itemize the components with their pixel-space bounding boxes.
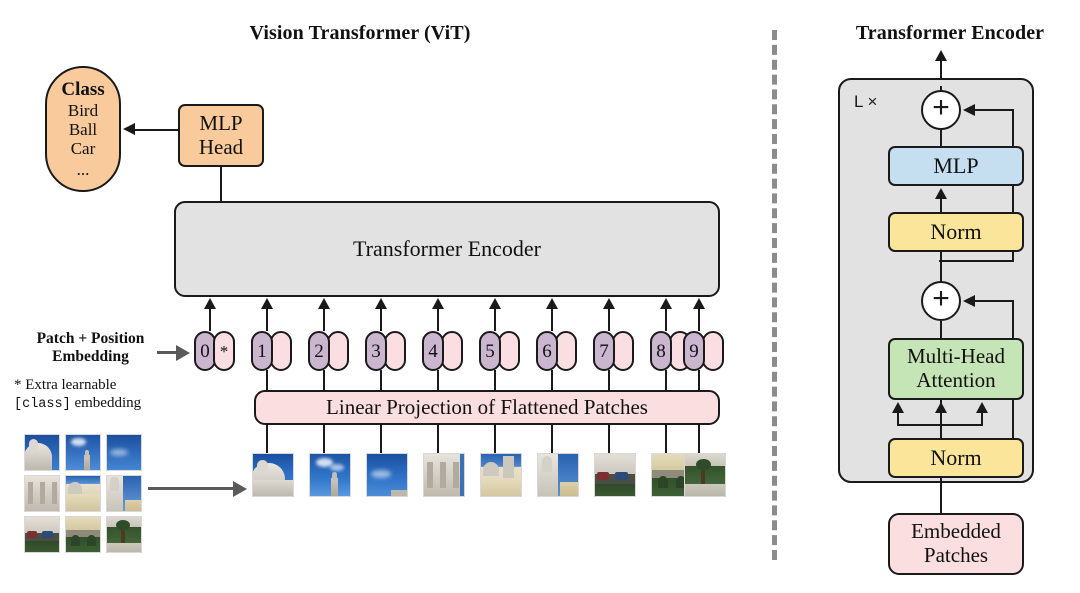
token-arrow-head-2 xyxy=(318,298,330,309)
token-pair-5: 5 xyxy=(479,331,520,371)
qkv-branch-v xyxy=(981,412,983,426)
token-arrow-head-9 xyxy=(693,298,705,309)
repeat-count-label: L × xyxy=(854,92,877,112)
panel-divider xyxy=(772,30,777,560)
token-pair-4: 4 xyxy=(422,331,463,371)
proj-stem-up-9 xyxy=(698,370,700,391)
token-arrow-head-1 xyxy=(261,298,273,309)
token-index-5: 5 xyxy=(479,331,501,371)
token-index-7: 7 xyxy=(593,331,615,371)
token-arrow-head-5 xyxy=(489,298,501,309)
left-panel-title: Vision Transformer (ViT) xyxy=(180,22,540,45)
source-patch-r1c1 xyxy=(24,434,60,471)
top-skip-arrowhead xyxy=(963,104,975,116)
token-pair-6: 6 xyxy=(536,331,577,371)
token-value-6 xyxy=(555,331,577,371)
token-arrow-line-4 xyxy=(437,308,439,331)
footnote-tail: embedding xyxy=(71,395,141,411)
token-arrow-line-0 xyxy=(209,308,211,331)
token-index-8: 8 xyxy=(650,331,672,371)
source-patch-r2c3 xyxy=(106,475,142,512)
mlp-head-to-class-arrowhead xyxy=(123,123,135,135)
token-value-7 xyxy=(612,331,634,371)
token-index-2: 2 xyxy=(308,331,330,371)
proj-stem-down-9 xyxy=(698,425,700,453)
token-arrow-head-0 xyxy=(204,298,216,309)
proj-stem-up-2 xyxy=(323,370,325,391)
class-item-ellipsis: ... xyxy=(77,160,90,179)
source-patch-r3c1 xyxy=(24,516,60,553)
mlp-head-to-class-line xyxy=(135,129,178,131)
mlp-head-box: MLP Head xyxy=(178,104,264,167)
flat-patch-5 xyxy=(480,453,522,497)
top-adder-input-line xyxy=(940,130,942,147)
token-arrow-head-8 xyxy=(660,298,672,309)
token-index-6: 6 xyxy=(536,331,558,371)
embedding-label-line1: Patch + Position xyxy=(37,330,145,347)
patchify-arrowhead xyxy=(233,481,247,497)
bottom-adder-input-line xyxy=(940,321,942,339)
flat-patch-9 xyxy=(684,453,726,497)
token-index-1: 1 xyxy=(251,331,273,371)
embedding-label-line2: Embedding xyxy=(52,348,129,365)
source-patch-r1c2 xyxy=(65,434,101,471)
residual-adder-bottom: + xyxy=(921,281,961,321)
proj-stem-down-5 xyxy=(494,425,496,453)
residual-adder-top: + xyxy=(921,90,961,130)
source-patch-r3c2 xyxy=(65,516,101,553)
proj-stem-down-2 xyxy=(323,425,325,453)
token-arrow-line-3 xyxy=(380,308,382,331)
token-pair-1: 1 xyxy=(251,331,292,371)
token-arrow-line-9 xyxy=(698,308,700,331)
qkv-arrowhead-v xyxy=(976,402,988,413)
token-value-5 xyxy=(498,331,520,371)
multi-head-attention-block: Multi-Head Attention xyxy=(888,338,1024,400)
proj-stem-down-1 xyxy=(266,425,268,453)
token-arrow-line-8 xyxy=(665,308,667,331)
token-index-4: 4 xyxy=(422,331,444,371)
embedded-patches-to-norm-line xyxy=(940,478,942,514)
flat-patch-6 xyxy=(537,453,579,497)
norm-top-to-mlp-line xyxy=(940,198,942,212)
transformer-encoder-label: Transformer Encoder xyxy=(353,237,541,262)
attention-label-line1: Multi-Head xyxy=(907,345,1005,369)
encoder-output-arrowhead xyxy=(935,50,947,61)
qkv-arrowhead-q xyxy=(892,402,904,413)
norm-block-bottom: Norm xyxy=(888,438,1024,478)
token-value-4 xyxy=(441,331,463,371)
proj-stem-up-1 xyxy=(266,370,268,391)
embedded-patches-block: Embedded Patches xyxy=(888,513,1024,575)
token-pair-3: 3 xyxy=(365,331,406,371)
source-patch-r1c3 xyxy=(106,434,142,471)
transformer-encoder-box: Transformer Encoder xyxy=(174,201,720,297)
proj-stem-up-6 xyxy=(551,370,553,391)
token-value-1 xyxy=(270,331,292,371)
qkv-branch-q xyxy=(897,412,899,426)
token-index-3: 3 xyxy=(365,331,387,371)
token-class-star: * xyxy=(213,331,235,371)
mlp-block: MLP xyxy=(888,146,1024,186)
footnote-mono-token: [class] xyxy=(14,397,71,412)
token-value-2 xyxy=(327,331,349,371)
token-pair-9: 9 xyxy=(683,331,724,371)
mlp-head-label-line2: Head xyxy=(199,136,243,160)
right-panel-title: Transformer Encoder xyxy=(820,22,1080,45)
proj-stem-up-7 xyxy=(608,370,610,391)
mlp-head-label-line1: MLP xyxy=(199,112,242,136)
bottom-skip-arrowhead xyxy=(963,295,975,307)
token-arrow-line-6 xyxy=(551,308,553,331)
top-skip-horizontal-top xyxy=(975,109,1014,111)
token-arrow-line-7 xyxy=(608,308,610,331)
patchify-arrow-line xyxy=(148,487,234,490)
embedded-patches-line1: Embedded xyxy=(911,520,1001,544)
source-patch-r2c2 xyxy=(65,475,101,512)
bottom-skip-horizontal-top xyxy=(975,300,1014,302)
mlp-head-to-encoder-line xyxy=(220,166,222,202)
norm-block-top-label: Norm xyxy=(930,220,981,245)
proj-stem-down-7 xyxy=(608,425,610,453)
token-value-3 xyxy=(384,331,406,371)
norm-block-top: Norm xyxy=(888,212,1024,252)
proj-stem-down-8 xyxy=(665,425,667,453)
token-arrow-head-6 xyxy=(546,298,558,309)
flat-patch-4 xyxy=(423,453,465,497)
proj-stem-down-3 xyxy=(380,425,382,453)
norm-top-input-line xyxy=(940,252,942,282)
mlp-block-label: MLP xyxy=(933,154,978,179)
qkv-arrowhead-k xyxy=(935,402,947,413)
class-item-ball: Ball xyxy=(69,120,97,139)
token-arrow-head-4 xyxy=(432,298,444,309)
class-item-bird: Bird xyxy=(68,101,98,120)
class-item-car: Car xyxy=(71,139,96,158)
class-output-box: Class Bird Ball Car ... xyxy=(45,66,121,192)
token-arrow-line-5 xyxy=(494,308,496,331)
token-index-9: 9 xyxy=(683,331,705,371)
flat-patch-3 xyxy=(366,453,408,497)
attention-label-line2: Attention xyxy=(916,369,995,393)
token-value-9 xyxy=(702,331,724,371)
token-pair-0: 0 * xyxy=(194,331,235,371)
flat-patch-2 xyxy=(309,453,351,497)
linear-projection-label: Linear Projection of Flattened Patches xyxy=(326,396,648,420)
norm-top-to-mlp-arrowhead xyxy=(935,188,947,199)
flat-patch-7 xyxy=(594,453,636,497)
token-arrow-head-7 xyxy=(603,298,615,309)
patch-position-embedding-label: Patch + Position Embedding xyxy=(8,330,173,366)
embedding-label-arrowhead xyxy=(176,345,190,361)
token-arrow-line-1 xyxy=(266,308,268,331)
class-embedding-footnote: * Extra learnable [class] embedding xyxy=(14,376,189,413)
source-patch-r3c3 xyxy=(106,516,142,553)
source-patch-r2c1 xyxy=(24,475,60,512)
token-pair-2: 2 xyxy=(308,331,349,371)
embedded-patches-line2: Patches xyxy=(924,544,988,568)
norm-block-bottom-label: Norm xyxy=(930,446,981,471)
linear-projection-box: Linear Projection of Flattened Patches xyxy=(254,390,720,425)
proj-stem-up-5 xyxy=(494,370,496,391)
proj-stem-down-4 xyxy=(437,425,439,453)
token-arrow-line-2 xyxy=(323,308,325,331)
class-heading: Class xyxy=(61,79,104,100)
proj-stem-up-8 xyxy=(665,370,667,391)
token-pair-7: 7 xyxy=(593,331,634,371)
proj-stem-down-6 xyxy=(551,425,553,453)
proj-stem-up-3 xyxy=(380,370,382,391)
token-arrow-head-3 xyxy=(375,298,387,309)
flat-patch-1 xyxy=(252,453,294,497)
proj-stem-up-4 xyxy=(437,370,439,391)
footnote-line1: * Extra learnable xyxy=(14,377,116,393)
embedding-label-arrow-line xyxy=(157,351,177,354)
top-skip-horizontal-bottom xyxy=(939,260,1014,262)
